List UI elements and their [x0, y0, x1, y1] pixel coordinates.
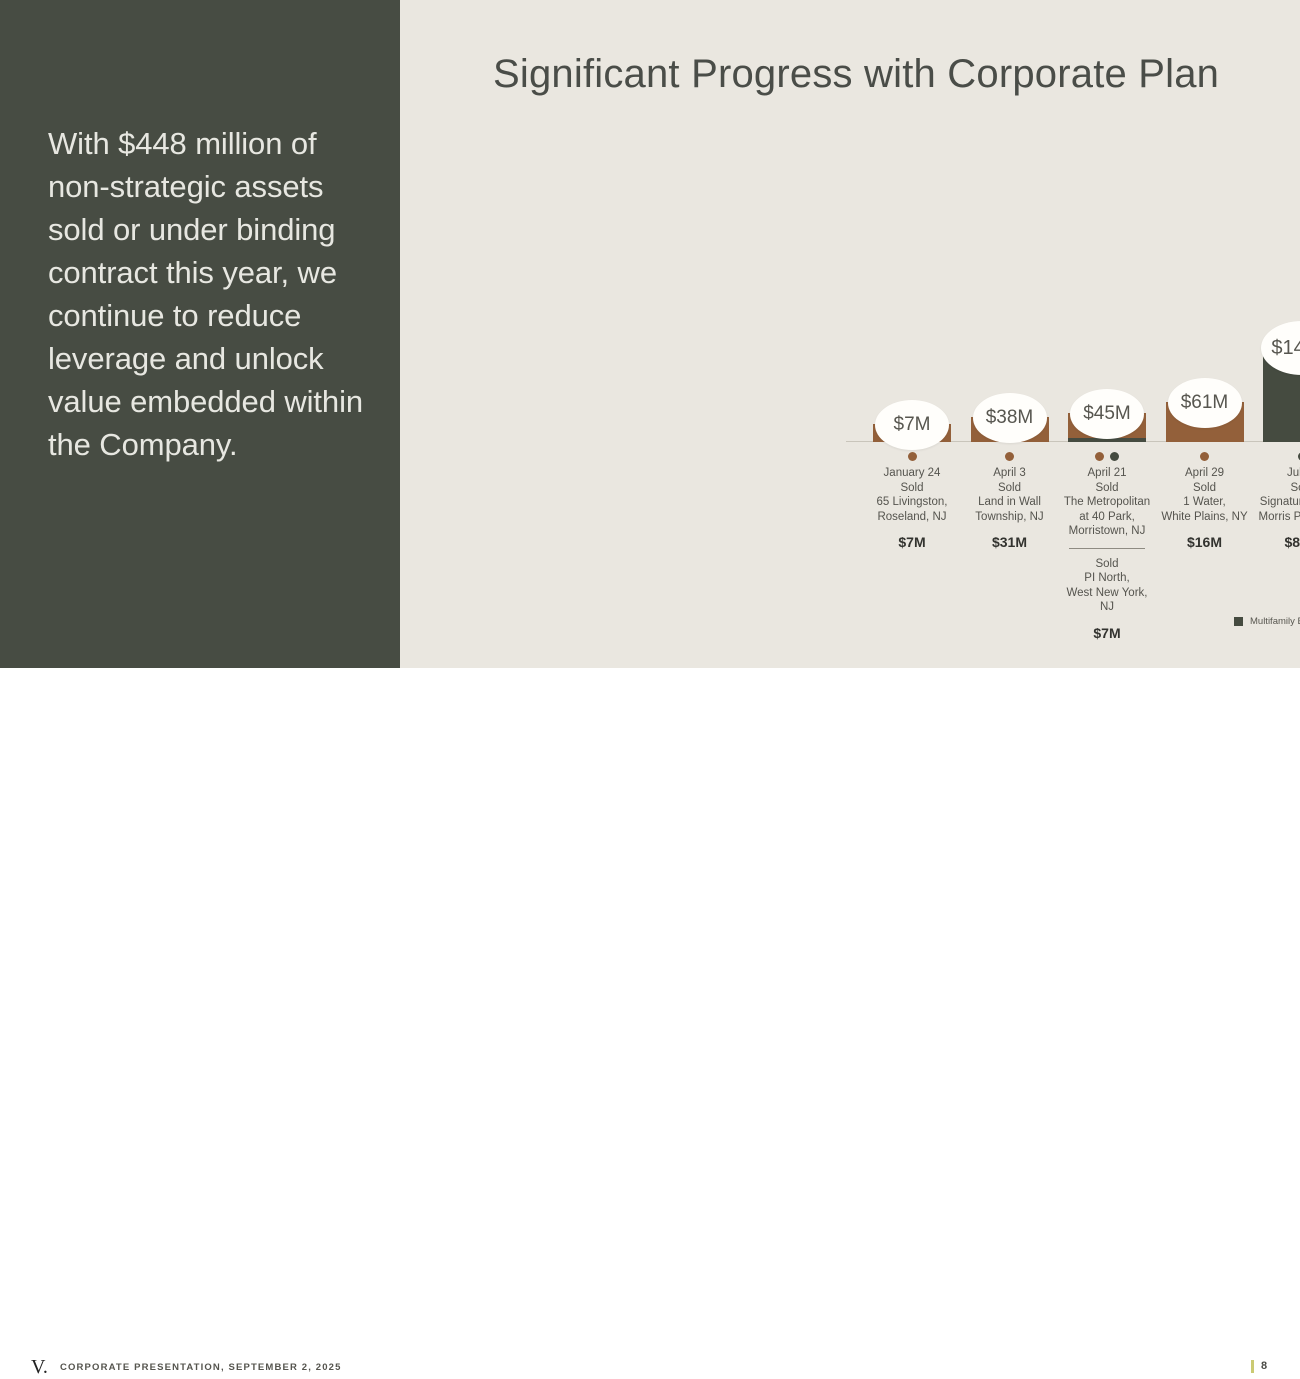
- x-axis-label-group: April 3 Sold Land in Wall Township, NJ$3…: [960, 448, 1060, 550]
- category-dot-icon: [1200, 452, 1209, 461]
- bar-value-bubble: $7M: [875, 400, 949, 450]
- bar-column[interactable]: $7M: [873, 150, 951, 442]
- bar-column[interactable]: $146M: [1263, 150, 1300, 442]
- category-dot-group: [1155, 448, 1255, 464]
- category-dot-group: [960, 448, 1060, 464]
- page-number: 8: [1261, 1360, 1267, 1372]
- category-dot-group: [1057, 448, 1157, 464]
- x-axis-label-group: January 24 Sold 65 Livingston, Roseland,…: [862, 448, 962, 550]
- legend-item[interactable]: Multifamily Building Sale: [1234, 616, 1300, 627]
- legend-label: Multifamily Building Sale: [1250, 616, 1300, 627]
- bar-value-bubble: $45M: [1070, 389, 1144, 439]
- label-divider: [1069, 548, 1145, 549]
- slide-root: With $448 million of non-strategic asset…: [0, 0, 1300, 730]
- transaction-description-secondary: Sold PI North, West New York, NJ: [1057, 557, 1157, 615]
- legend-swatch-icon: [1234, 617, 1243, 626]
- transaction-value: $16M: [1155, 534, 1255, 550]
- category-dot-icon: [908, 452, 917, 461]
- right-panel: Significant Progress with Corporate Plan…: [400, 0, 1300, 668]
- transaction-description: April 21 Sold The Metropolitan at 40 Par…: [1057, 466, 1157, 539]
- category-dot-icon: [1095, 452, 1104, 461]
- transaction-value: $7M: [862, 534, 962, 550]
- category-dot-group: [862, 448, 962, 464]
- transaction-description: July 9 Sold Signature Place, Morris Plai…: [1252, 466, 1300, 524]
- left-panel: With $448 million of non-strategic asset…: [0, 0, 400, 668]
- lede-paragraph: With $448 million of non-strategic asset…: [48, 122, 378, 466]
- transaction-value: $85M: [1252, 534, 1300, 550]
- bar-column[interactable]: $61M: [1166, 150, 1244, 442]
- transaction-description: April 29 Sold 1 Water, White Plains, NY: [1155, 466, 1255, 524]
- transaction-description: January 24 Sold 65 Livingston, Roseland,…: [862, 466, 962, 524]
- bar-column[interactable]: $45M: [1068, 150, 1146, 442]
- bar-value-bubble: $38M: [973, 393, 1047, 443]
- chart-legend: Multifamily Building SaleMultifamily Bui…: [1234, 616, 1300, 627]
- category-dot-group: [1252, 448, 1300, 464]
- x-axis-label-group: April 21 Sold The Metropolitan at 40 Par…: [1057, 448, 1157, 641]
- company-logo: V.: [31, 1356, 48, 1379]
- bar-value-bubble: $61M: [1168, 378, 1242, 428]
- footer-bar: V. CORPORATE PRESENTATION, SEPTEMBER 2, …: [0, 668, 1300, 730]
- bar-column[interactable]: $38M: [971, 150, 1049, 442]
- page-accent-mark: [1251, 1360, 1254, 1373]
- page-title: Significant Progress with Corporate Plan: [493, 52, 1219, 97]
- x-axis-label-group: July 9 Sold Signature Place, Morris Plai…: [1252, 448, 1300, 550]
- transaction-value: $31M: [960, 534, 1060, 550]
- transaction-description: April 3 Sold Land in Wall Township, NJ: [960, 466, 1060, 524]
- category-dot-icon: [1110, 452, 1119, 461]
- bar-chart: $7M$38M$45M$61M$146M$268M$385M$448M: [873, 150, 1300, 442]
- x-axis-label-group: April 29 Sold 1 Water, White Plains, NY$…: [1155, 448, 1255, 550]
- footer-caption: CORPORATE PRESENTATION, SEPTEMBER 2, 202…: [60, 1362, 342, 1373]
- transaction-value: $7M: [1057, 625, 1157, 641]
- category-dot-icon: [1005, 452, 1014, 461]
